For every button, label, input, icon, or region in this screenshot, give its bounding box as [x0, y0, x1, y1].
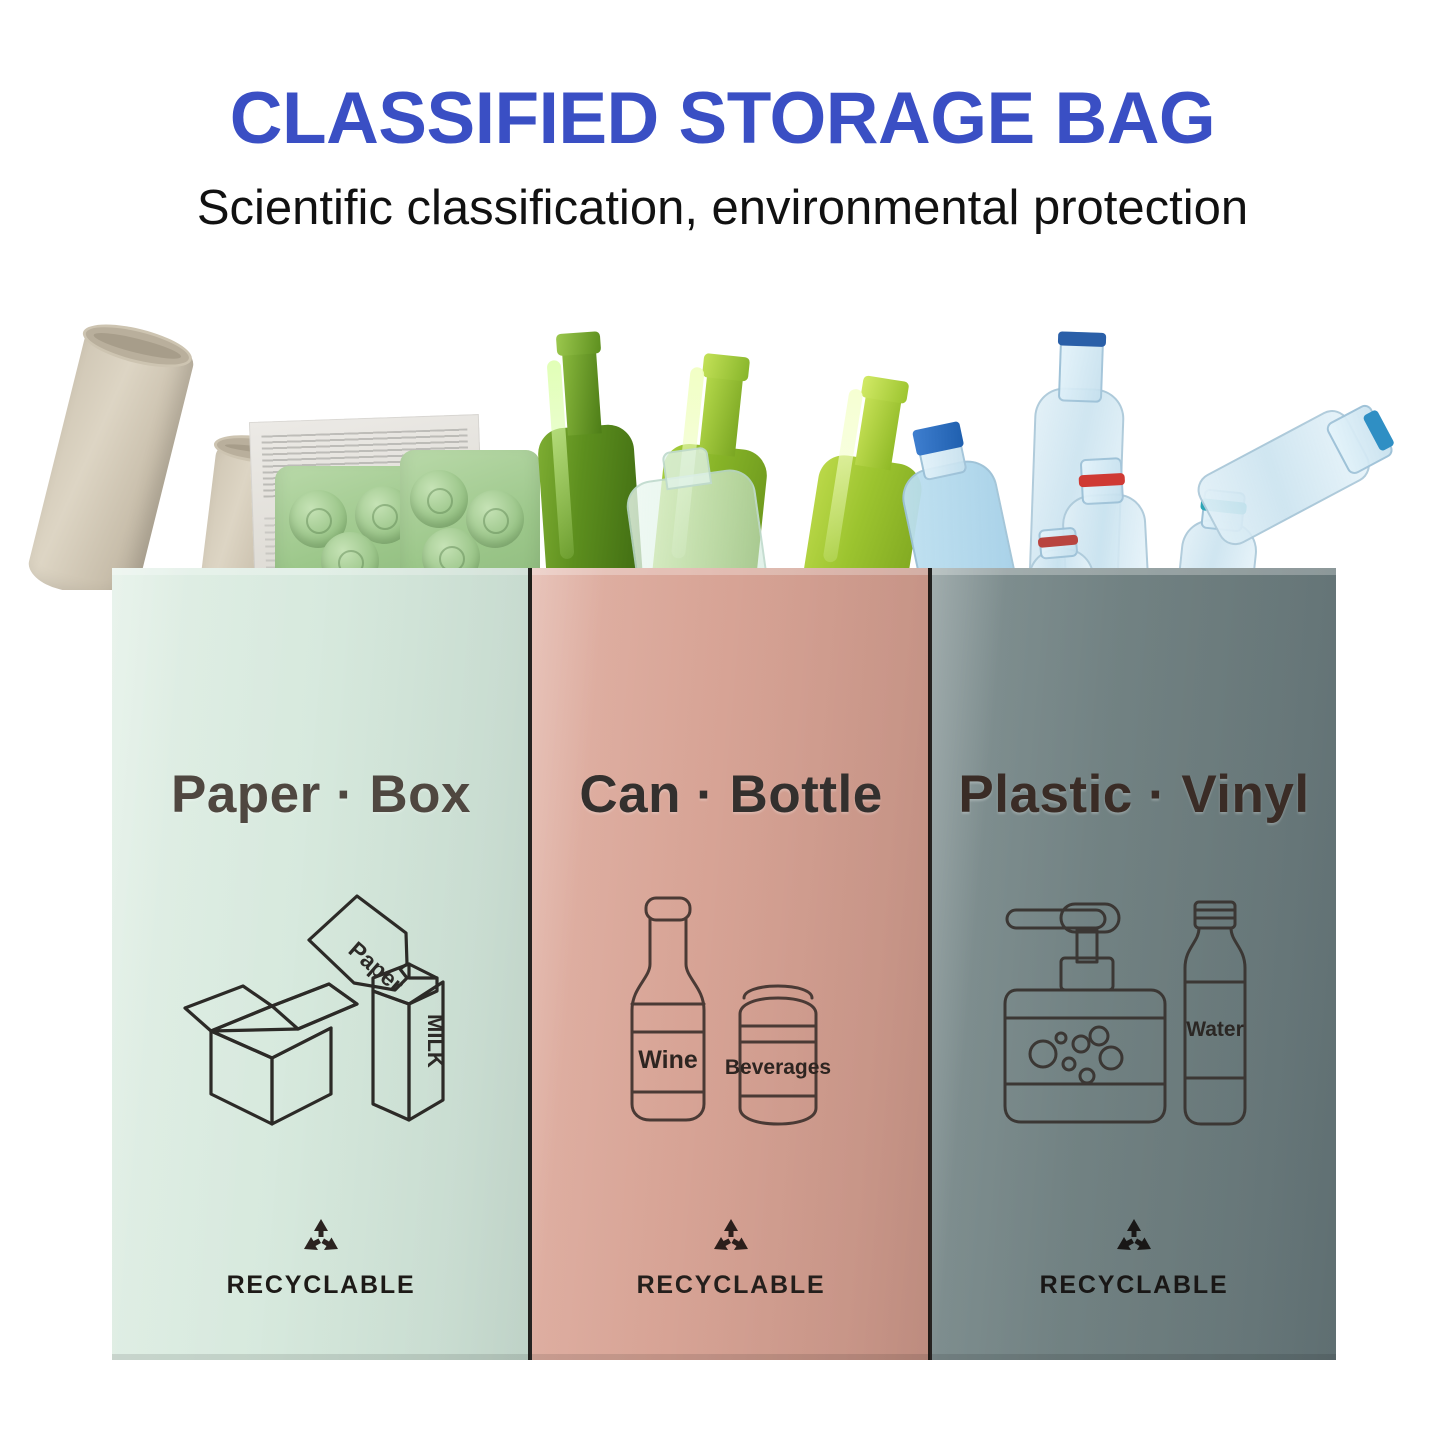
page-title: CLASSIFIED STORAGE BAG: [0, 0, 1445, 155]
recyclable-label: RECYCLABLE: [532, 1271, 930, 1300]
recyclables-photo: [0, 300, 1445, 590]
icon-box-paper-milk: Paper: [112, 886, 530, 1136]
recycle-icon: [1113, 1217, 1155, 1257]
bag-top-rim: [932, 568, 1336, 575]
bag-top-rim: [112, 568, 530, 575]
bag-label-paper-box: Paper · Box: [112, 764, 530, 825]
page-subtitle: Scientific classification, environmental…: [0, 155, 1445, 234]
bag-bottom-rim: [532, 1354, 930, 1360]
recycle-icon: [300, 1217, 342, 1257]
wine-icon-text: Wine: [638, 1046, 698, 1074]
bag-label-can-bottle: Can · Bottle: [532, 764, 930, 825]
recyclable-block-plastic: RECYCLABLE: [932, 1217, 1336, 1300]
bag-top-rim: [532, 568, 930, 575]
storage-bags-row: Paper · Box Paper: [112, 568, 1336, 1360]
recycle-icon: [710, 1217, 752, 1257]
bag-bottom-rim: [112, 1354, 530, 1360]
paper-sheet-icon: Paper: [309, 896, 409, 998]
bag-paper-box[interactable]: Paper · Box Paper: [112, 568, 530, 1360]
water-icon-text: Water: [1186, 1018, 1244, 1041]
icon-bottle-can: Wine Beverages: [532, 886, 930, 1136]
bag-divider-1: [528, 568, 532, 1360]
pump-dispenser-icon: [1005, 904, 1165, 1122]
icon-pump-water-bottle: Water: [932, 886, 1336, 1136]
beverages-icon-text: Beverages: [725, 1056, 831, 1079]
recyclable-label: RECYCLABLE: [112, 1271, 530, 1300]
bag-divider-2: [928, 568, 932, 1360]
milk-icon-text: MILK: [423, 1014, 448, 1068]
recyclable-label: RECYCLABLE: [932, 1271, 1336, 1300]
cardboard-tube-large: [24, 320, 198, 590]
bag-label-plastic-vinyl: Plastic · Vinyl: [932, 764, 1336, 825]
cardboard-box-icon: [185, 984, 357, 1124]
water-bottle-icon: Water: [1185, 902, 1245, 1124]
recyclable-block-paper: RECYCLABLE: [112, 1217, 530, 1300]
wine-bottle-icon: Wine: [632, 898, 704, 1120]
product-infographic: CLASSIFIED STORAGE BAG Scientific classi…: [0, 0, 1445, 1445]
header: CLASSIFIED STORAGE BAG Scientific classi…: [0, 0, 1445, 234]
beverage-can-icon: Beverages: [725, 986, 831, 1124]
bag-plastic-vinyl[interactable]: Plastic · Vinyl: [932, 568, 1336, 1360]
bag-bottom-rim: [932, 1354, 1336, 1360]
recyclable-block-can: RECYCLABLE: [532, 1217, 930, 1300]
bag-can-bottle[interactable]: Can · Bottle Wine: [532, 568, 930, 1360]
